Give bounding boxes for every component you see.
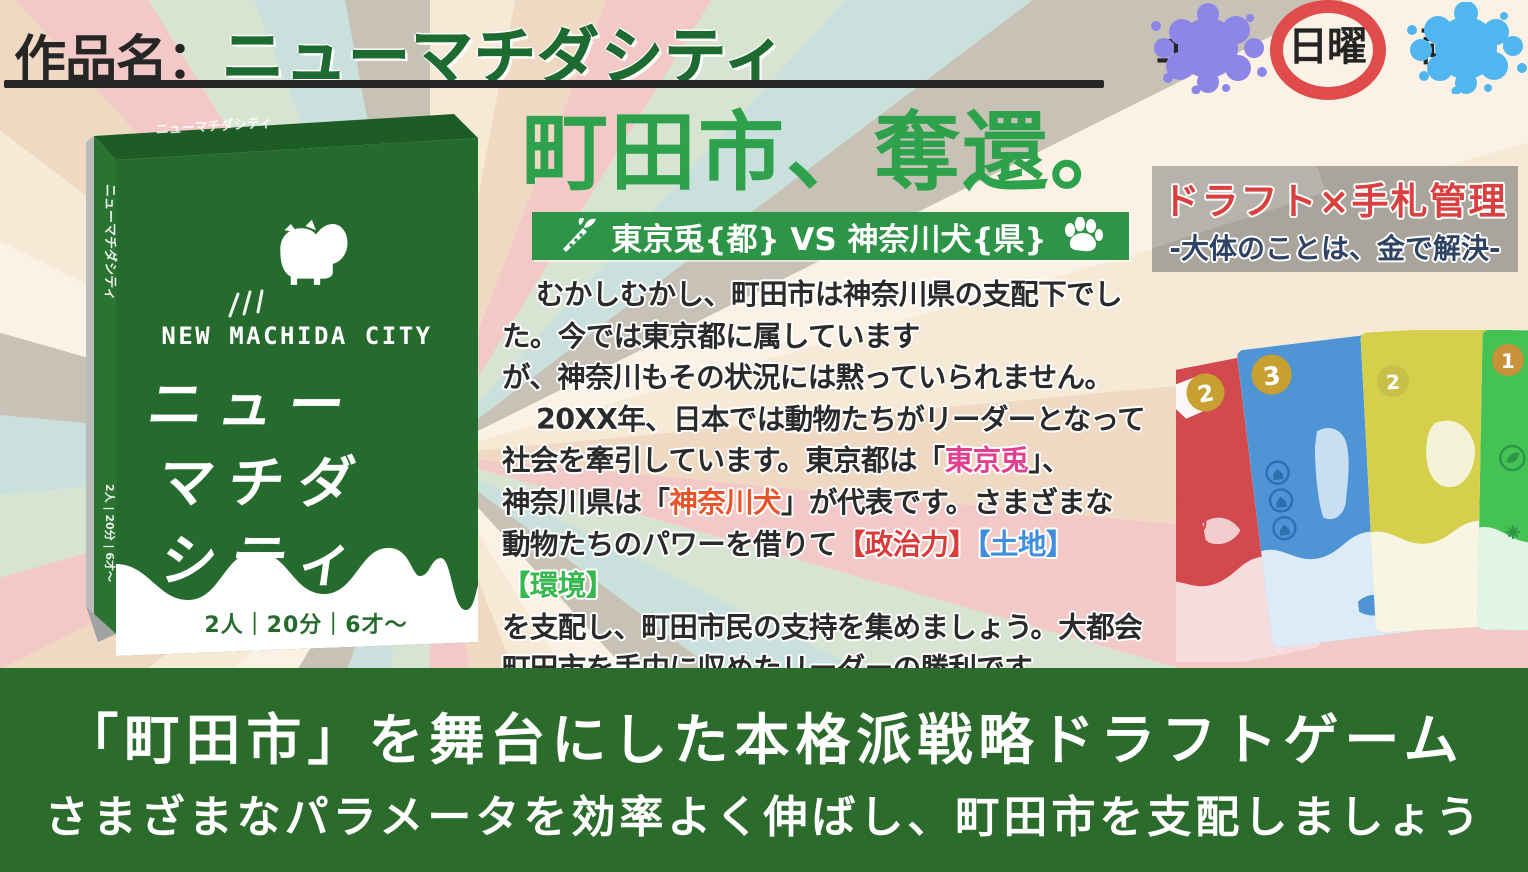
story-line-7: を支配し、町田市民の支持を集めましょう。大都会	[502, 607, 1158, 649]
tagline-primary: 「町田市」を舞台にした本格派戦略ドラフトゲーム	[63, 695, 1464, 775]
keyword-politics: 【政治力】	[837, 528, 977, 561]
paw-print-icon	[1061, 217, 1103, 255]
keyword-environment: 【環境】	[502, 569, 614, 602]
splat-mark-saturday	[1138, 2, 1278, 94]
genre-main-text: ドラフト×手札管理	[1162, 171, 1507, 225]
card-green: 1	[1477, 330, 1528, 632]
game-box-image: ニューマチダシティ ニューマチダシティ 2人 | 20分 | 6才〜 NEW M…	[38, 94, 488, 662]
story-line-2: が、神奈川もその状況には黙っていられません。	[502, 357, 1158, 399]
box-title-jp-1: ニュー	[144, 373, 363, 438]
genre-sub-text: -大体のことは、金で解決-	[1169, 227, 1500, 267]
center-content: 町田市、奪還。 東京兎{都} VS 神奈川犬{県}	[500, 96, 1160, 662]
keyword-kanagawa-dog: 神奈川犬	[669, 486, 781, 519]
card-green-number: 1	[1501, 349, 1515, 373]
card-yellow-number: 2	[1385, 370, 1400, 395]
card-blue-number: 3	[1261, 361, 1282, 392]
vs-banner-text: 東京兎{都} VS 神奈川犬{県}	[611, 214, 1046, 259]
selected-day-ring	[1270, 0, 1386, 100]
box-title-en: NEW MACHIDA CITY	[161, 322, 432, 350]
vs-banner: 東京兎{都} VS 神奈川犬{県}	[532, 212, 1129, 260]
story-line-4: 社会を牽引しています。東京都は「東京兎」、	[502, 440, 1158, 482]
box-spine-specs: 2人 | 20分 | 6才〜	[103, 484, 117, 582]
story-line-1: むかしむかし、町田市は神奈川県の支配下でした。今では東京都に属しています	[502, 274, 1158, 357]
story-frag-d: 」が代表です。さまざまな	[781, 486, 1113, 519]
story-line-3: 20XX年、日本では動物たちがリーダーとなって	[502, 399, 1158, 441]
keyword-land: 【土地】	[976, 528, 1073, 561]
keyword-tokyo-rabbit: 東京兎	[945, 444, 1029, 477]
box-title-jp-2: マチダ	[154, 451, 373, 516]
carrot-icon	[557, 218, 597, 254]
title-divider	[4, 80, 1104, 88]
box-spine-title: ニューマチダシティ	[102, 184, 118, 300]
main-heading: 町田市、奪還。	[500, 96, 1160, 196]
story-text: むかしむかし、町田市は神奈川県の支配下でした。今では東京都に属しています が、神…	[500, 274, 1160, 690]
card-fan-image: 2 3	[1176, 330, 1528, 662]
bottom-tagline-band: 「町田市」を舞台にした本格派戦略ドラフトゲーム さまざまなパラメータを効率よく伸…	[0, 668, 1528, 872]
story-frag-a: 社会を牽引しています。東京都は「	[502, 444, 945, 477]
story-line-5: 神奈川県は「神奈川犬」が代表です。さまざまな	[502, 482, 1158, 524]
box-specs: 2人｜20分｜6才〜	[204, 612, 407, 638]
story-frag-e: 動物たちのパワーを借りて	[502, 528, 837, 561]
tagline-secondary: さまざまなパラメータを効率よく伸ばし、町田市を支配しましょう	[45, 781, 1484, 845]
story-frag-c: 神奈川県は「	[502, 486, 669, 519]
snowflake-icon	[1507, 526, 1519, 538]
day-selector[interactable]: 土曜 日曜 両日	[1148, 2, 1518, 94]
promo-poster: 作品名： ニューマチダシティ 土曜 日曜 両日	[0, 0, 1528, 872]
story-line-6: 動物たちのパワーを借りて【政治力】【土地】【環境】	[502, 524, 1158, 607]
splat-mark-both-days	[1396, 2, 1528, 94]
genre-badge: ドラフト×手札管理 -大体のことは、金で解決-	[1152, 166, 1518, 272]
story-frag-b: 」、	[1028, 444, 1070, 477]
